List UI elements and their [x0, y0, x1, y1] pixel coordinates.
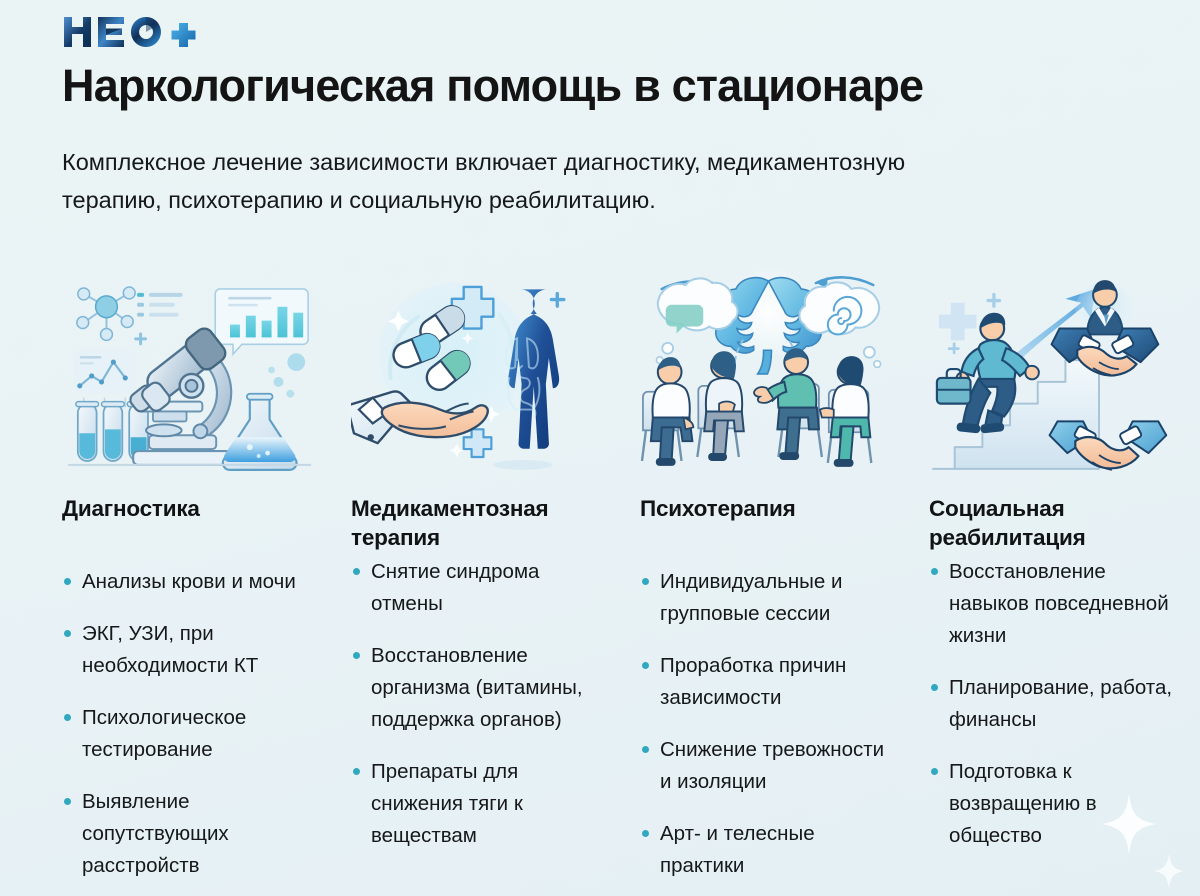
thought-bubble-icon — [799, 282, 880, 367]
bullet-list-drug-therapy: Снятие синдрома отмены Восстановление ор… — [351, 556, 608, 852]
column-title-social-rehab: Социальная реабилитация — [929, 494, 1186, 552]
sparkle-icon — [450, 443, 464, 457]
thought-bubble-icon — [656, 278, 737, 363]
column-drug-therapy: Медикаментозная терапия Снятие синдрома … — [335, 266, 624, 852]
bullet-list-psychotherapy: Индивидуальные и групповые сессии Прораб… — [640, 566, 897, 882]
column-psychotherapy: Психотерапия Индивидуальные и групповые … — [624, 266, 913, 882]
list-item: Планирование, работа, финансы — [929, 672, 1186, 736]
checklist-icon — [137, 293, 182, 317]
handshake-icon — [1052, 280, 1159, 375]
list-item: Арт- и телесные практики — [640, 818, 897, 882]
plus-icon — [948, 342, 960, 354]
neo-plus-logo — [62, 14, 196, 50]
list-item: Психологическое тестирование — [62, 702, 319, 766]
page-title: Наркологическая помощь в стационаре — [62, 62, 1150, 111]
bar-chart-icon — [215, 289, 308, 354]
list-item: Проработка причин зависимости — [640, 650, 897, 714]
list-item: ЭКГ, УЗИ, при необходимости КТ — [62, 618, 319, 682]
plus-icon — [550, 292, 566, 308]
column-title-diagnostics: Диагностика — [62, 494, 319, 552]
lab-microscope-illustration — [62, 266, 319, 478]
list-item: Индивидуальные и групповые сессии — [640, 566, 897, 630]
pills-hand-body-illustration — [351, 266, 608, 478]
bullet-list-diagnostics: Анализы крови и мочи ЭКГ, УЗИ, при необх… — [62, 566, 319, 882]
people-seated-icon — [642, 348, 871, 467]
bullet-list-social-rehab: Восстановление навыков повседневной жизн… — [929, 556, 1186, 852]
list-item: Снижение тревожности и изоляции — [640, 734, 897, 798]
career-handshake-illustration — [929, 266, 1186, 478]
list-item: Анализы крови и мочи — [62, 566, 319, 598]
list-item: Восстановление организма (витамины, подд… — [351, 640, 608, 736]
column-title-drug-therapy: Медикаментозная терапия — [351, 494, 608, 552]
line-chart-icon — [74, 350, 135, 407]
list-item: Препараты для снижения тяги к веществам — [351, 756, 608, 852]
infographic-page: Наркологическая помощь в стационаре Комп… — [0, 0, 1200, 896]
medical-cross-icon — [939, 303, 977, 341]
column-diagnostics: Диагностика Анализы крови и мочи ЭКГ, УЗ… — [46, 266, 335, 882]
list-item: Снятие синдрома отмены — [351, 556, 608, 620]
plus-icon — [986, 293, 1001, 308]
column-social-rehab: Социальная реабилитация Восстановление н… — [913, 266, 1200, 852]
bubbles-icon — [268, 353, 305, 397]
list-item: Выявление сопутствующих расстройств — [62, 786, 319, 882]
column-title-psychotherapy: Психотерапия — [640, 494, 897, 552]
page-subtitle: Комплексное лечение зависимости включает… — [62, 143, 962, 219]
columns-container: Диагностика Анализы крови и мочи ЭКГ, УЗ… — [46, 266, 1172, 882]
group-therapy-illustration — [640, 266, 897, 478]
list-item: Восстановление навыков повседневной жизн… — [929, 556, 1186, 652]
flask-icon — [223, 394, 297, 470]
plus-icon — [134, 332, 147, 345]
list-item: Подготовка к возвращению в общество — [929, 756, 1186, 852]
